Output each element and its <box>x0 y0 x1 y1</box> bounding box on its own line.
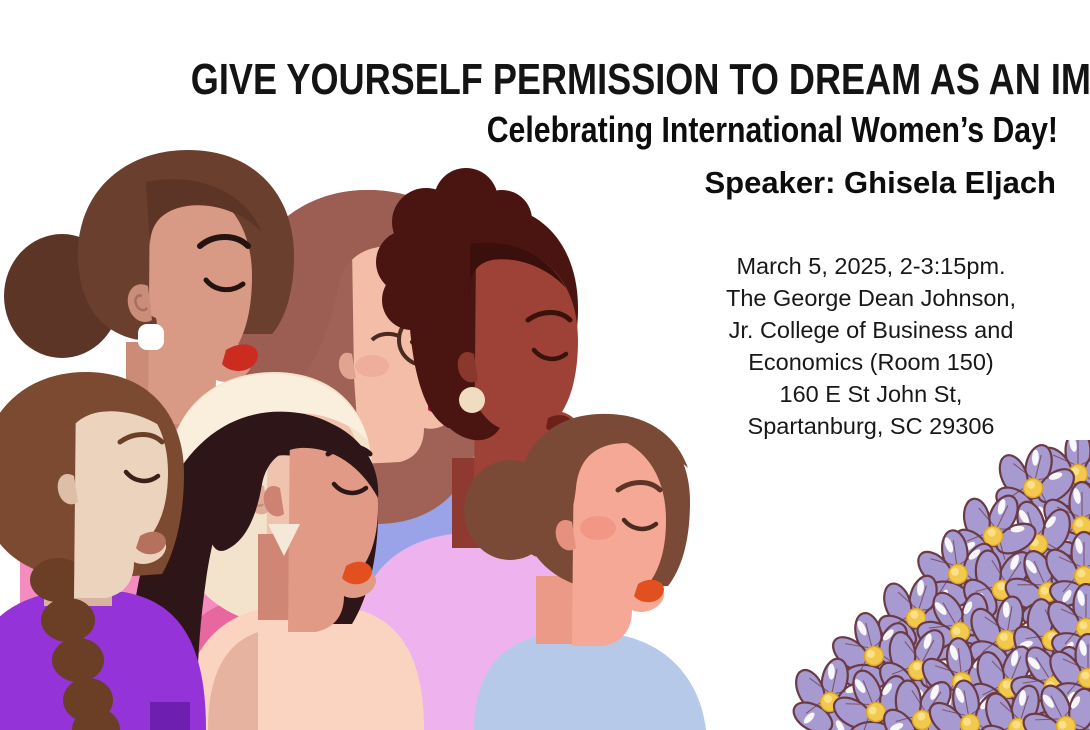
event-details: March 5, 2025, 2-3:15pm. The George Dean… <box>690 250 1052 442</box>
event-detail-line: Spartanburg, SC 29306 <box>690 410 1052 442</box>
subtitle: Celebrating International Women’s Day! <box>169 109 1058 151</box>
page-title: GIVE YOURSELF PERMISSION TO DREAM AS AN … <box>191 56 1060 104</box>
purple-daisy-cluster <box>790 440 1090 730</box>
event-detail-line: The George Dean Johnson, <box>690 282 1052 314</box>
event-detail-line: Economics (Room 150) <box>690 346 1052 378</box>
event-detail-line: March 5, 2025, 2-3:15pm. <box>690 250 1052 282</box>
event-detail-line: Jr. College of Business and <box>690 314 1052 346</box>
speaker-line: Speaker: Ghisela Eljach <box>0 164 1056 202</box>
poster-canvas: GIVE YOURSELF PERMISSION TO DREAM AS AN … <box>0 0 1090 730</box>
women-profiles-illustration <box>0 128 710 730</box>
event-detail-line: 160 E St John St, <box>690 378 1052 410</box>
